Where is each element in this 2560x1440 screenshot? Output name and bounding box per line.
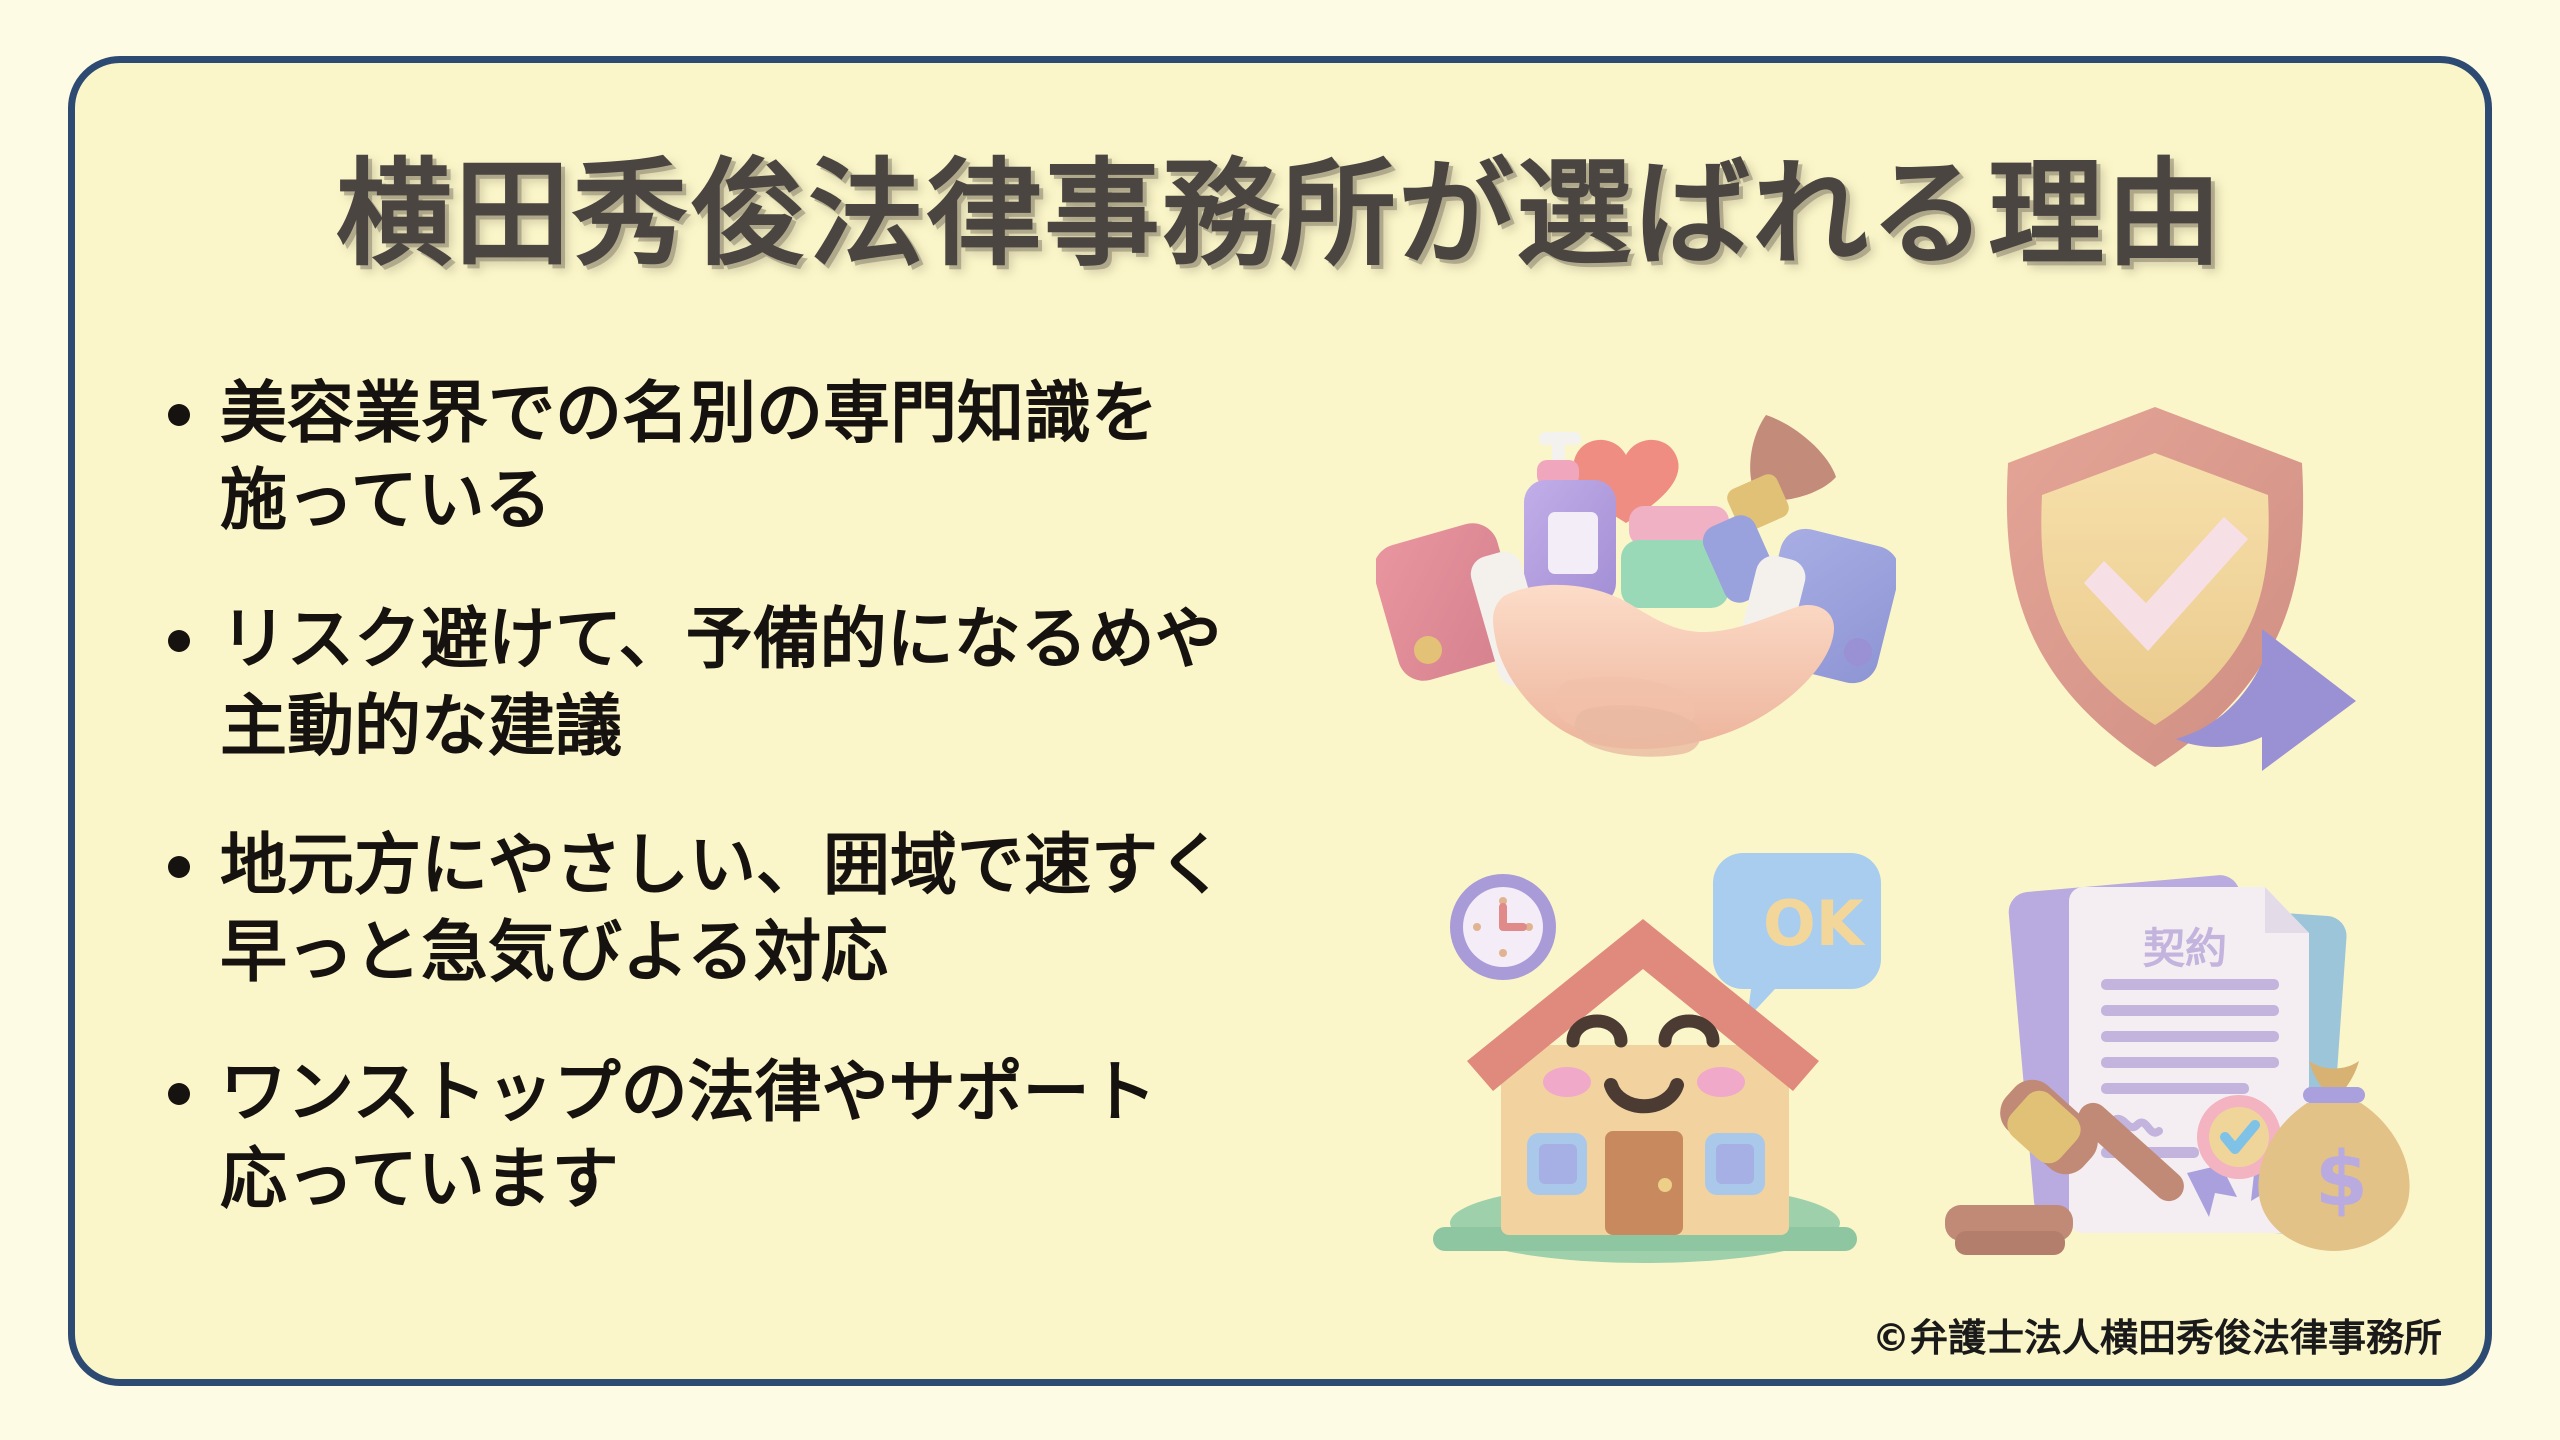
- bullet-dot-icon: [168, 856, 190, 878]
- ok-speech-bubble-icon: OK: [1713, 853, 1881, 1019]
- bullet-dot-icon: [168, 630, 190, 652]
- list-item-text: 美容業界での名別の専門知識を 施っている: [220, 370, 1158, 544]
- shield-check-illustration: [1980, 395, 2450, 810]
- list-item-line: 施っている: [220, 457, 1158, 544]
- list-item-text: リスク避けて、予備的になるめや 主動的な建議: [220, 596, 1222, 770]
- handshake-cosmetics-illustration: [1376, 360, 1896, 810]
- list-item-line: ワンストップの法律やサポート: [220, 1049, 1157, 1136]
- list-item-text: ワンストップの法律やサポート 応っています: [220, 1049, 1157, 1223]
- list-item: ワンストップの法律やサポート 応っています: [168, 1049, 1418, 1223]
- bullet-dot-icon: [168, 1083, 190, 1105]
- slide-canvas: 横田秀俊法律事務所が選ばれる理由 美容業界での名別の専門知識を 施っている リス…: [0, 0, 2560, 1440]
- list-item-line: 早っと急気びよる対応: [220, 909, 1225, 996]
- list-item-line: リスク避けて、予備的になるめや: [220, 596, 1222, 683]
- list-item-text: 地元方にやさしい、囲域で速すく 早っと急気びよる対応: [220, 822, 1225, 996]
- list-item-line: 主動的な建議: [220, 683, 1222, 770]
- list-item: リスク避けて、予備的になるめや 主動的な建議: [168, 596, 1418, 770]
- ok-bubble-text: OK: [1763, 887, 1866, 960]
- list-item-line: 地元方にやさしい、囲域で速すく: [220, 822, 1225, 909]
- contract-gavel-illustration: 契約: [1925, 875, 2425, 1285]
- list-item: 地元方にやさしい、囲域で速すく 早っと急気びよる対応: [168, 822, 1418, 996]
- contract-title-text: 契約: [2143, 924, 2227, 973]
- clock-icon: [1450, 874, 1556, 980]
- copyright-notice: ©弁護士法人横田秀俊法律事務所: [1872, 1307, 2442, 1362]
- list-item-line: 応っています: [220, 1136, 1157, 1223]
- dollar-symbol: $: [2315, 1134, 2368, 1223]
- list-item-line: 美容業界での名別の専門知識を: [220, 370, 1158, 457]
- house-ok-illustration: OK: [1395, 845, 1895, 1275]
- bullet-dot-icon: [168, 404, 190, 426]
- reasons-list: 美容業界での名別の専門知識を 施っている リスク避けて、予備的になるめや 主動的…: [168, 370, 1418, 1275]
- list-item: 美容業界での名別の専門知識を 施っている: [168, 370, 1418, 544]
